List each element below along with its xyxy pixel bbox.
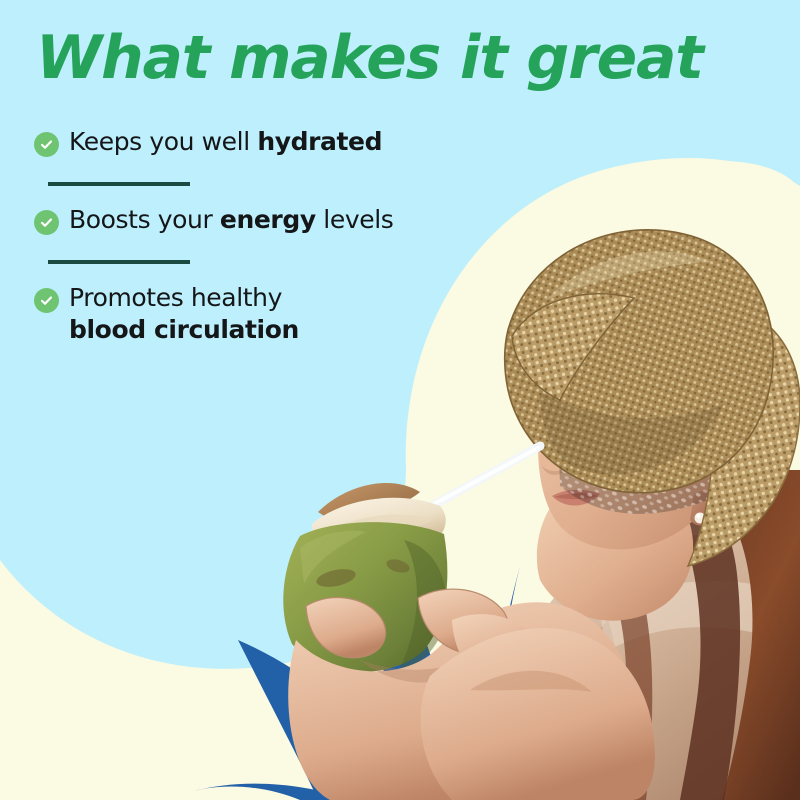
benefit-emphasis: hydrated: [257, 127, 382, 156]
benefit-text: Boosts your energy levels: [69, 204, 393, 236]
benefit-row-energy: Boosts your energy levels: [34, 204, 454, 242]
check-circle-icon: [34, 210, 59, 235]
benefit-text: Keeps you well hydrated: [69, 126, 382, 158]
check-circle-icon: [34, 132, 59, 157]
benefit-divider: [48, 260, 190, 264]
benefit-suffix: levels: [316, 205, 394, 234]
benefit-second-line: blood circulation: [69, 314, 299, 346]
check-circle-icon: [34, 288, 59, 313]
list-item: Keeps you well hydrated: [34, 126, 454, 186]
list-item: Promotes healthyblood circulation: [34, 282, 454, 346]
list-item: Boosts your energy levels: [34, 204, 454, 264]
background-shapes: [0, 0, 800, 800]
benefit-text: Promotes healthyblood circulation: [69, 282, 299, 346]
benefit-row-circulation: Promotes healthyblood circulation: [34, 282, 454, 346]
benefits-list: Keeps you well hydrated Boosts your ener…: [34, 126, 454, 346]
promo-card: What makes it great Keeps you well hydra…: [0, 0, 800, 800]
page-title: What makes it great: [36, 26, 703, 91]
benefit-prefix: Promotes healthy: [69, 283, 282, 312]
benefit-prefix: Keeps you well: [69, 127, 257, 156]
benefit-divider: [48, 182, 190, 186]
benefit-prefix: Boosts your: [69, 205, 220, 234]
benefit-row-hydrated: Keeps you well hydrated: [34, 126, 454, 164]
benefit-emphasis: energy: [220, 205, 316, 234]
